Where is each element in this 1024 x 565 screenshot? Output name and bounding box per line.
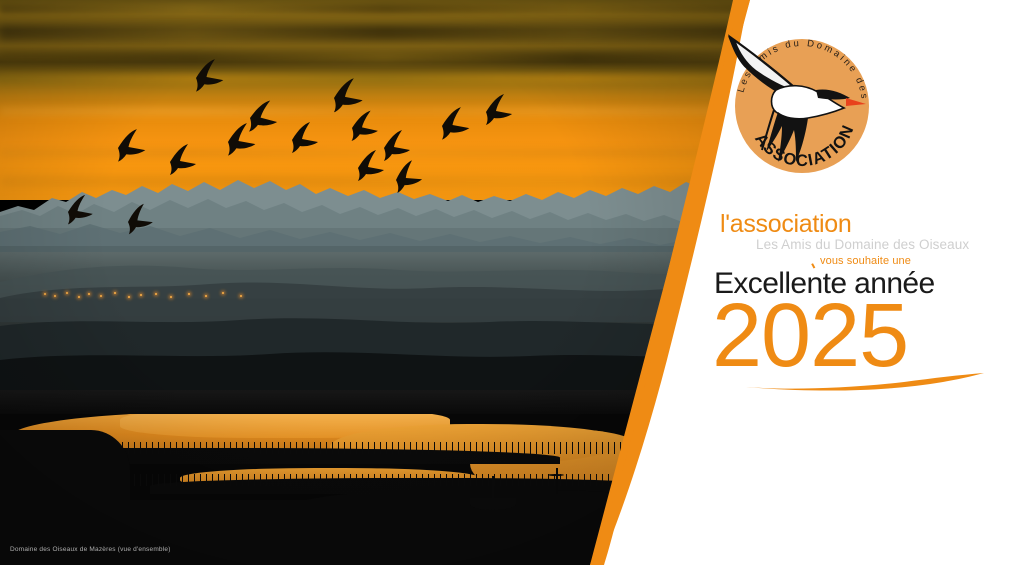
- greeting-text-block: l'association Les Amis du Domaine des Oi…: [710, 212, 1022, 392]
- photo-vignette: [0, 0, 770, 565]
- sunset-landscape-photo: Domaine des Oiseaux de Mazères (vue d'en…: [0, 0, 770, 565]
- association-name: Les Amis du Domaine des Oiseaux: [756, 238, 1022, 252]
- wish-prefix-label: vous souhaite une: [820, 255, 911, 267]
- greeting-card: Domaine des Oiseaux de Mazères (vue d'en…: [0, 0, 1024, 565]
- year-number: 2025: [712, 295, 1022, 378]
- right-text-panel: Les Amis du Domaine des Oiseaux: [694, 0, 1024, 565]
- association-label: l'association: [720, 212, 1022, 237]
- photo-caption: Domaine des Oiseaux de Mazères (vue d'en…: [10, 546, 171, 553]
- wish-prefix: vous souhaite une: [820, 256, 1022, 267]
- association-logo[interactable]: Les Amis du Domaine des Oiseaux: [716, 20, 888, 192]
